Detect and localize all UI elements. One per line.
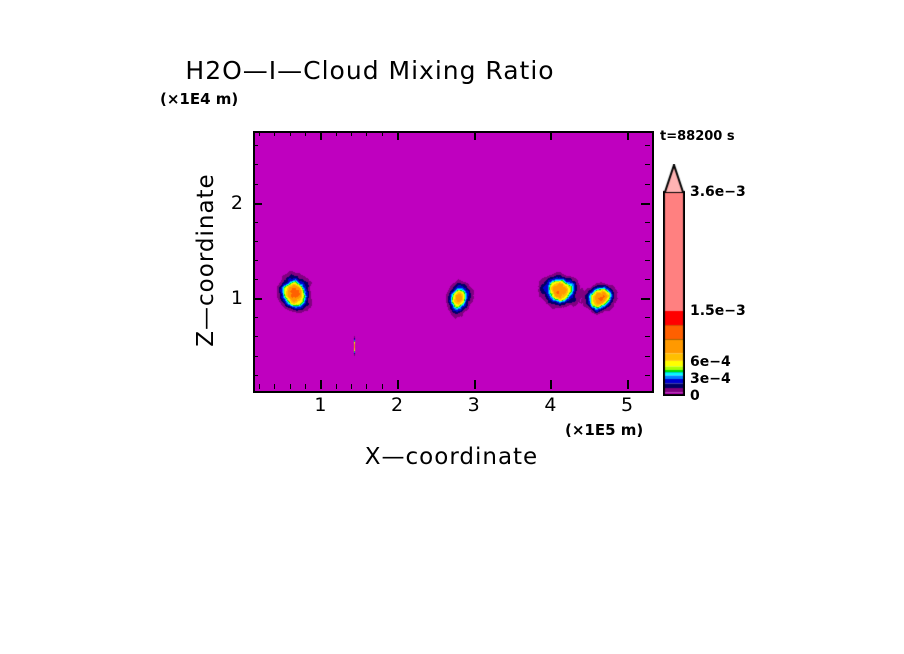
x-tick-major-top	[397, 131, 399, 140]
y-tick-major-right	[641, 298, 650, 300]
y-tick-minor-right	[645, 317, 650, 318]
x-tick-label: 5	[621, 394, 633, 416]
colorbar-tick-label: 3.6e−3	[690, 184, 746, 200]
x-tick-label: 3	[468, 394, 480, 416]
y-tick-minor-right	[645, 222, 650, 223]
x-tick-label: 4	[544, 394, 556, 416]
y-tick-minor-right	[645, 336, 650, 337]
x-tick-minor-top	[274, 131, 275, 136]
y-tick-major	[253, 298, 262, 300]
y-tick-minor	[253, 184, 258, 185]
y-tick-minor	[253, 145, 258, 146]
x-tick-major	[474, 380, 476, 389]
y-tick-minor	[253, 356, 258, 357]
x-tick-major-top	[627, 131, 629, 140]
x-tick-major-top	[550, 131, 552, 140]
x-tick-major	[320, 380, 322, 389]
y-axis-title: Z—coordinate	[195, 60, 218, 460]
time-label: t=88200 s	[660, 130, 735, 143]
x-tick-major-top	[474, 131, 476, 140]
y-tick-minor-right	[645, 356, 650, 357]
x-axis-units-label: (×1E5 m)	[565, 423, 643, 438]
y-tick-minor	[253, 317, 258, 318]
y-tick-minor	[253, 164, 258, 165]
x-tick-minor	[290, 384, 291, 389]
y-tick-minor-right	[645, 375, 650, 376]
y-tick-minor	[253, 241, 258, 242]
y-tick-major	[253, 203, 262, 205]
colorbar	[663, 164, 685, 396]
colorbar-tick-label: 6e−4	[690, 354, 731, 370]
y-tick-minor	[253, 375, 258, 376]
plot-area	[253, 131, 654, 393]
x-tick-minor-top	[366, 131, 367, 136]
colorbar-tick-label: 0	[690, 388, 700, 404]
y-tick-label: 2	[225, 192, 243, 214]
y-tick-minor-right	[645, 145, 650, 146]
y-tick-minor	[253, 279, 258, 280]
y-tick-minor	[253, 336, 258, 337]
colorbar-tick-label: 1.5e−3	[690, 303, 746, 319]
x-tick-major-top	[320, 131, 322, 140]
y-tick-minor-right	[645, 164, 650, 165]
page-title: H2O—I—Cloud Mixing Ratio	[0, 58, 740, 83]
y-tick-minor	[253, 260, 258, 261]
y-tick-minor-right	[645, 184, 650, 185]
x-tick-minor	[259, 384, 260, 389]
x-tick-minor-top	[351, 131, 352, 136]
x-tick-minor	[336, 384, 337, 389]
x-tick-major	[627, 380, 629, 389]
y-tick-minor-right	[645, 279, 650, 280]
x-axis-title: X—coordinate	[253, 446, 650, 469]
y-tick-minor-right	[645, 260, 650, 261]
x-tick-minor-top	[336, 131, 337, 136]
x-tick-minor-top	[290, 131, 291, 136]
y-tick-label: 1	[225, 287, 243, 309]
x-tick-label: 1	[314, 394, 326, 416]
x-tick-label: 2	[391, 394, 403, 416]
x-tick-minor	[351, 384, 352, 389]
x-tick-minor	[305, 384, 306, 389]
x-tick-minor	[274, 384, 275, 389]
y-tick-minor	[253, 222, 258, 223]
colorbar-canvas	[663, 164, 685, 396]
x-tick-minor-top	[259, 131, 260, 136]
x-tick-minor-top	[305, 131, 306, 136]
contour-heatmap-canvas	[255, 133, 652, 391]
x-tick-minor	[382, 384, 383, 389]
y-tick-minor-right	[645, 241, 650, 242]
y-tick-major-right	[641, 203, 650, 205]
x-tick-minor	[366, 384, 367, 389]
colorbar-tick-label: 3e−4	[690, 371, 731, 387]
x-tick-major	[550, 380, 552, 389]
x-tick-minor-top	[382, 131, 383, 136]
x-tick-major	[397, 380, 399, 389]
figure-root: H2O—I—Cloud Mixing Ratio (×1E4 m) t=8820…	[0, 0, 904, 654]
